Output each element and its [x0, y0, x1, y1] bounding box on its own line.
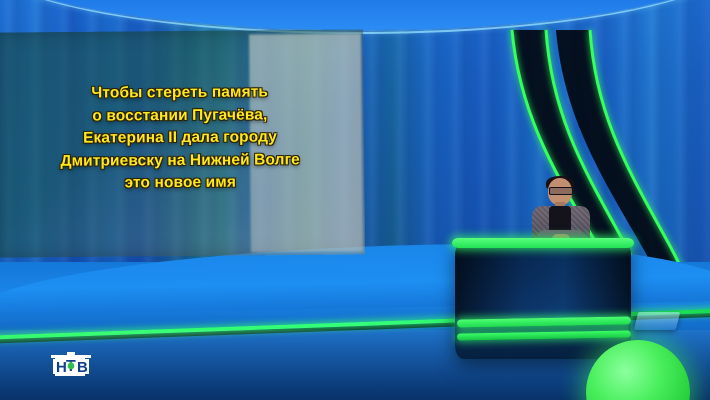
- svg-text:В: В: [77, 359, 88, 376]
- question-line-4: Дмитриевску на Нижней Волге: [0, 148, 360, 173]
- question-line-5: это новое имя: [0, 171, 360, 196]
- ntv-logo: Н Т В: [48, 351, 94, 380]
- podium-front-shading: [455, 248, 631, 320]
- podium-top-neon: [452, 238, 634, 248]
- question-line-3: Екатерина II дала городу: [0, 126, 360, 151]
- glasses-icon: [549, 187, 573, 195]
- tv-broadcast-frame: Чтобы стереть память о восстании Пугачёв…: [0, 0, 710, 400]
- question-line-2: о восстании Пугачёва,: [0, 103, 360, 128]
- question-line-1: Чтобы стереть память: [0, 81, 360, 106]
- glass-prop: [634, 312, 680, 330]
- question-text: Чтобы стереть память о восстании Пугачёв…: [0, 81, 360, 196]
